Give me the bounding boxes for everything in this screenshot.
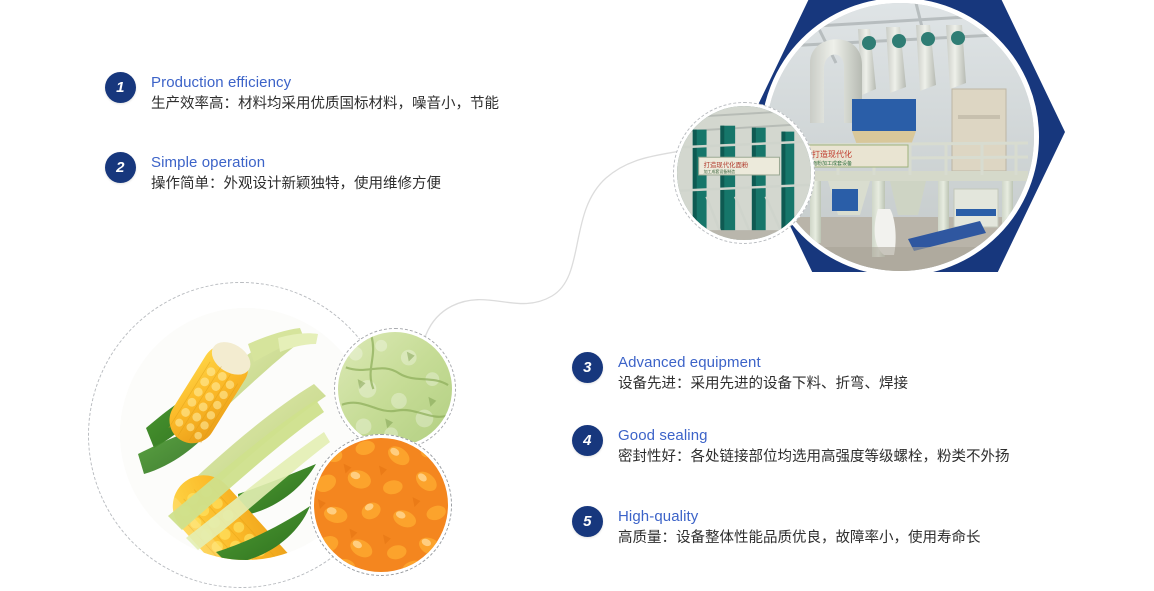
feature-item-5[interactable]: 5 High-quality 高质量：设备整体性能品质优良，故障率小，使用寿命长: [572, 506, 981, 549]
feature-desc-2: 操作简单：外观设计新颖独特，使用维修方便: [151, 174, 441, 195]
feature-desc-1: 生产效率高：材料均采用优质国标材料，噪音小，节能: [151, 94, 499, 115]
green-milling-machinery-photo: 打造现代化面粉 加工成套设备制造: [677, 106, 811, 240]
feature-title-3: Advanced equipment: [618, 353, 908, 372]
feature-desc-4: 密封性好：各处链接部位均选用高强度等级螺栓，粉类不外扬: [618, 447, 1010, 468]
svg-text:打造现代化: 打造现代化: [812, 149, 852, 159]
orange-corn-grits-photo: [314, 438, 448, 572]
feature-badge-3: 3: [572, 352, 603, 383]
svg-text:打造现代化面粉: 打造现代化面粉: [704, 160, 749, 169]
feature-desc-5: 高质量：设备整体性能品质优良，故障率小，使用寿命长: [618, 528, 981, 549]
corn-product-graphic: [88, 282, 468, 591]
corn-grits-photo-circle: [310, 434, 452, 576]
feature-item-1[interactable]: 1 Production efficiency 生产效率高：材料均采用优质国标材…: [105, 72, 499, 115]
feature-item-2[interactable]: 2 Simple operation 操作简单：外观设计新颖独特，使用维修方便: [105, 152, 441, 195]
feature-title-5: High-quality: [618, 507, 981, 526]
machine-side-photo-circle: 打造现代化面粉 加工成套设备制造: [673, 102, 815, 244]
feature-badge-2: 2: [105, 152, 136, 183]
infographic-page: 打造现代化 面粉加工成套设备: [0, 0, 1154, 591]
feature-title-4: Good sealing: [618, 426, 1010, 445]
svg-text:加工成套设备制造: 加工成套设备制造: [704, 169, 736, 174]
green-corn-dough-photo: [338, 332, 452, 446]
feature-title-2: Simple operation: [151, 153, 441, 172]
feature-badge-1: 1: [105, 72, 136, 103]
feature-item-4[interactable]: 4 Good sealing 密封性好：各处链接部位均选用高强度等级螺栓，粉类不…: [572, 425, 1010, 468]
feature-badge-5: 5: [572, 506, 603, 537]
green-paste-photo-circle: [334, 328, 456, 450]
feature-title-1: Production efficiency: [151, 73, 499, 92]
feature-desc-3: 设备先进：采用先进的设备下料、折弯、焊接: [618, 374, 908, 395]
machine-hexagon-graphic: 打造现代化 面粉加工成套设备: [745, 0, 1065, 272]
svg-text:面粉加工成套设备: 面粉加工成套设备: [812, 160, 852, 167]
flour-milling-plant-photo: 打造现代化 面粉加工成套设备: [766, 3, 1034, 271]
feature-badge-4: 4: [572, 425, 603, 456]
feature-item-3[interactable]: 3 Advanced equipment 设备先进：采用先进的设备下料、折弯、焊…: [572, 352, 908, 395]
